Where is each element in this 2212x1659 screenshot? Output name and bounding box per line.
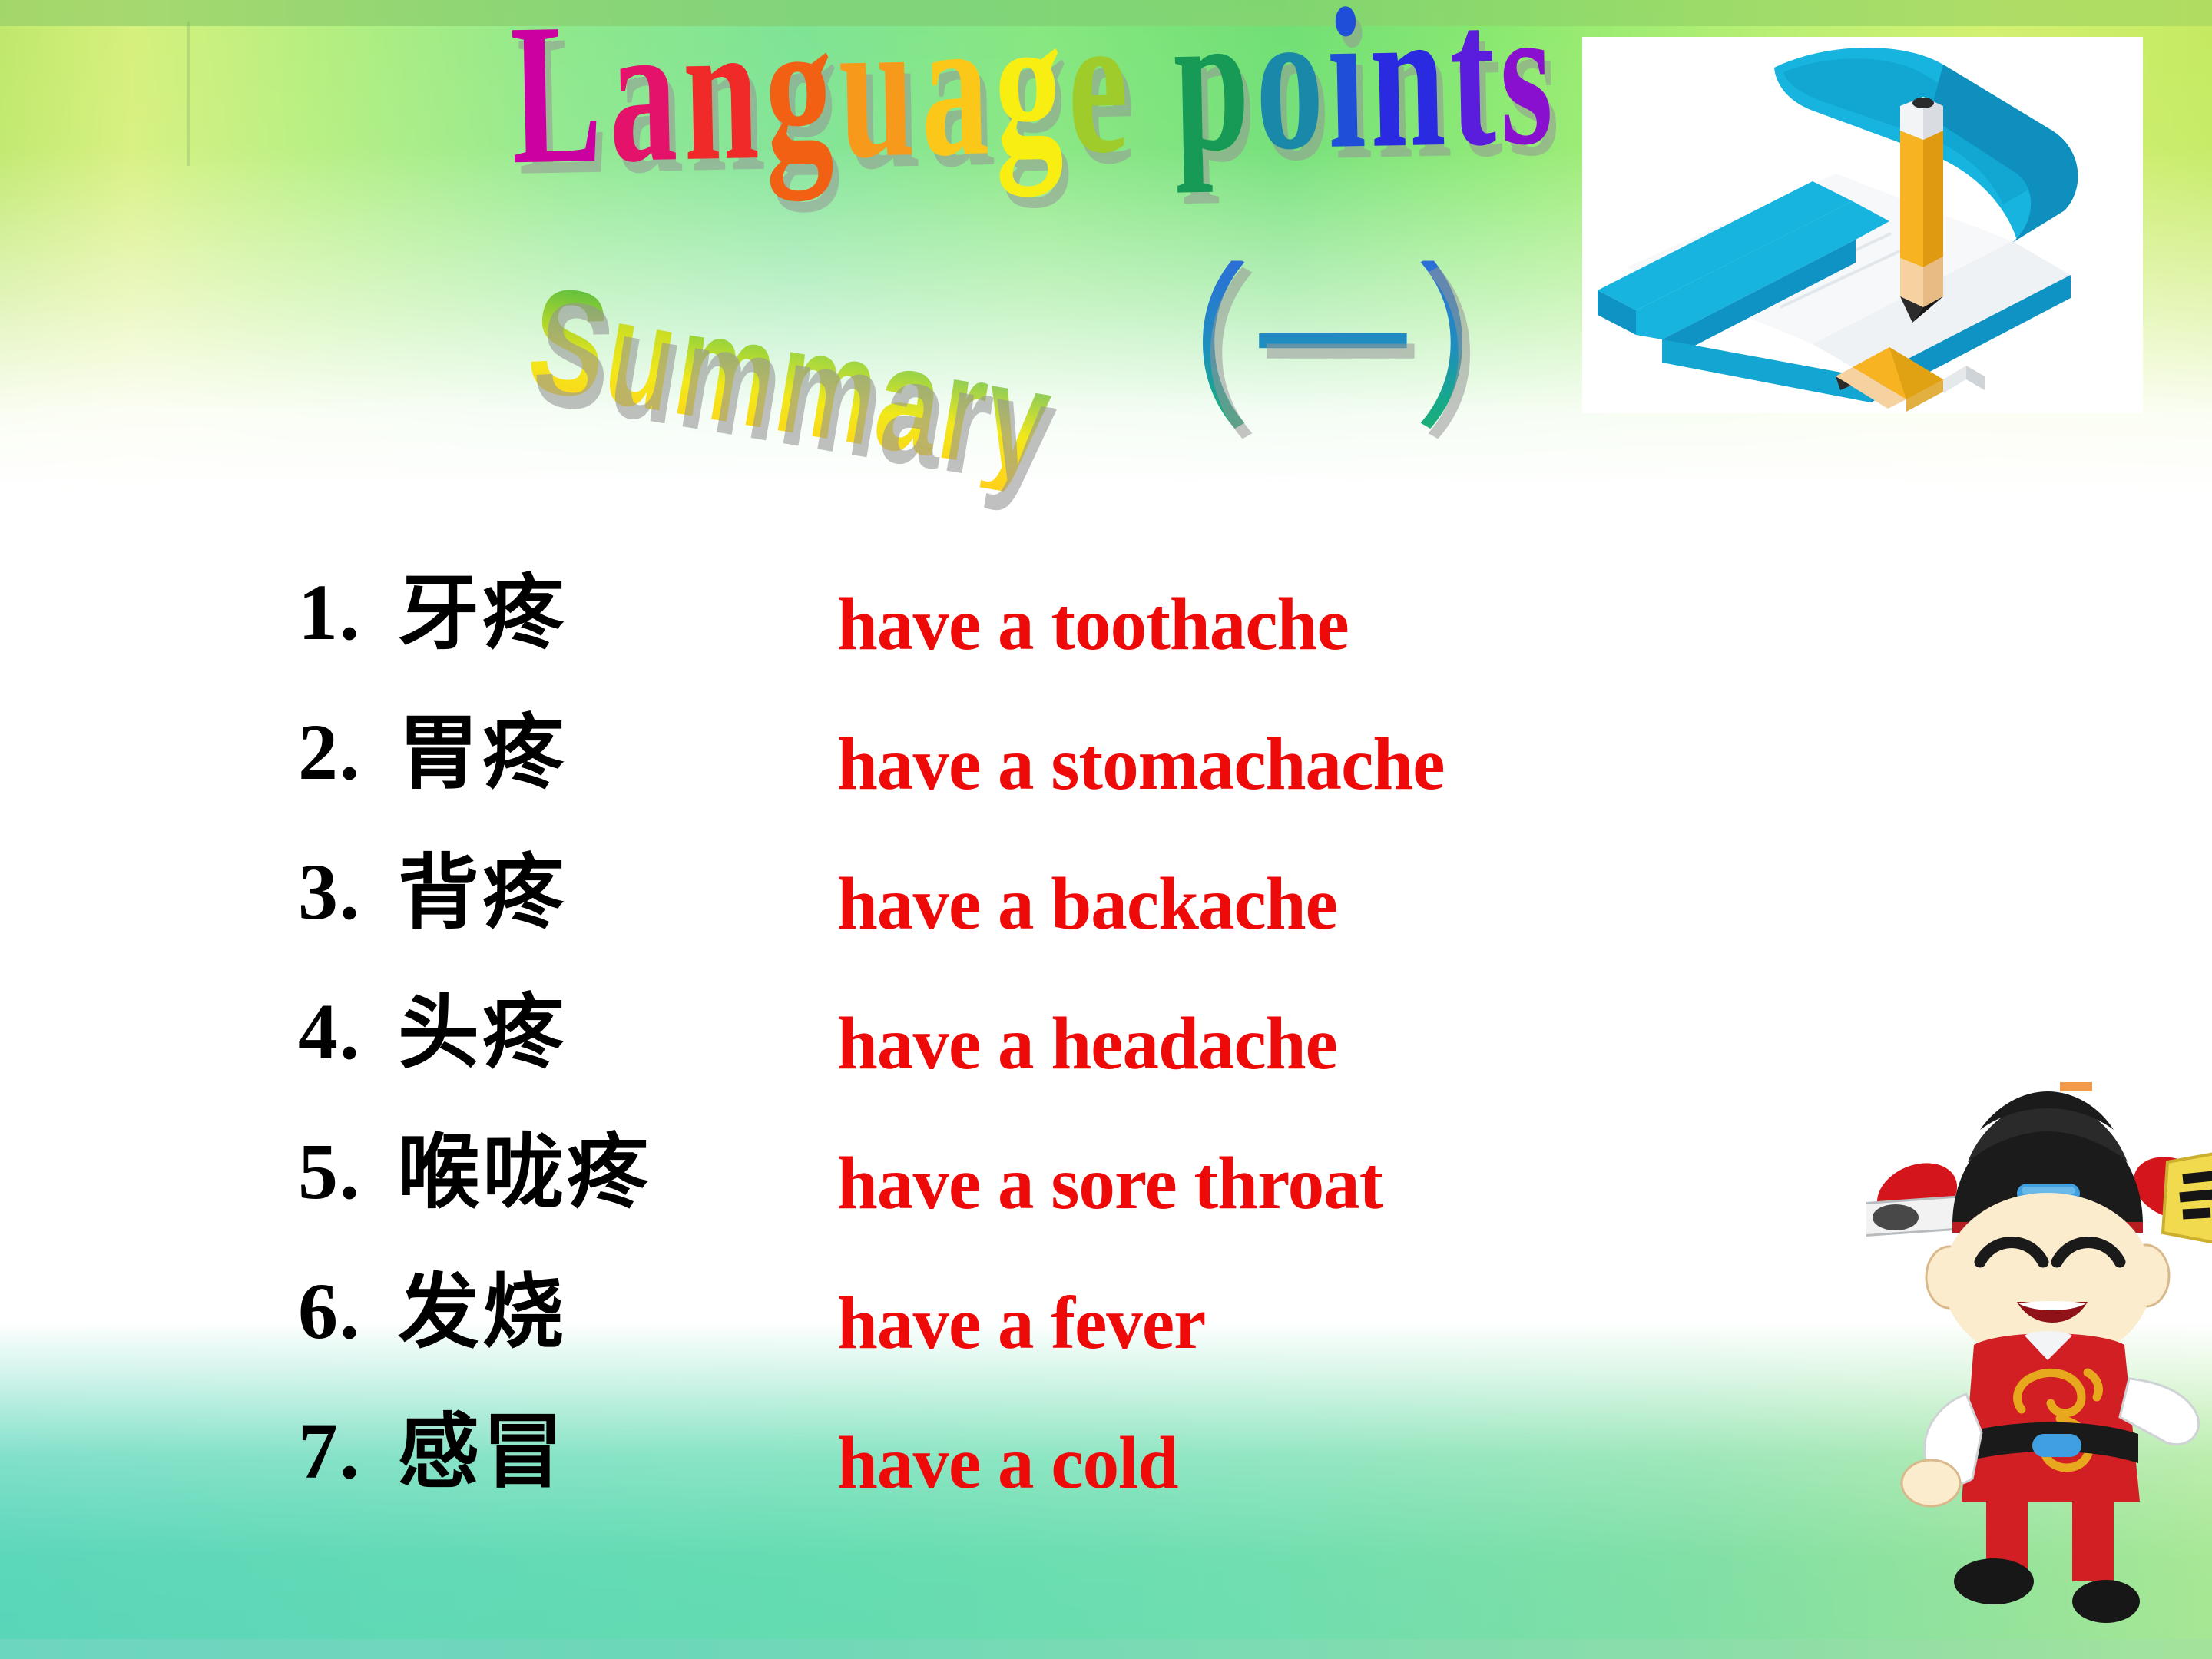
title-letter: o [1253, 0, 1323, 182]
list-item-number: 5. [298, 1132, 361, 1212]
list-item: 3.背疼have a backache [0, 848, 2212, 988]
open-book-with-pencil-illustration [1582, 37, 2143, 413]
list-item-number: 2. [298, 713, 361, 793]
title-letter: a [919, 0, 988, 188]
list-item-english: have a toothache [837, 587, 1349, 662]
list-item-chinese: 头疼 [398, 988, 567, 1078]
subtitle-suffix: （一） [1091, 260, 1575, 441]
list-item-chinese: 胃疼 [398, 708, 567, 798]
list-item-number: 3. [298, 853, 361, 932]
title-letter: n [1368, 0, 1445, 180]
title-letter: L [509, 0, 602, 196]
slide-canvas: Language points Summary （一） [0, 0, 2212, 1659]
title-letter: e [1065, 0, 1128, 186]
list-item-english: have a headache [837, 1006, 1337, 1081]
title-letter: a [607, 0, 677, 194]
list-item-chinese: 喉咙疼 [398, 1128, 651, 1217]
list-item: 2.胃疼have a stomachache [0, 708, 2212, 848]
list-item-chinese: 感冒 [398, 1407, 567, 1497]
chinese-new-year-boy-mascot [1866, 1071, 2212, 1659]
title-letter: n [680, 0, 758, 193]
list-item-number: 4. [298, 992, 361, 1072]
title-letter: p [1171, 0, 1249, 184]
book-pencil-svg [1582, 37, 2143, 413]
list-item-number: 1. [298, 573, 361, 653]
title-letter: t [1449, 0, 1496, 178]
list-item-chinese: 牙疼 [398, 568, 567, 658]
title-letter: i [1326, 0, 1366, 180]
mascot-svg [1866, 1071, 2212, 1659]
list-item-number: 7. [298, 1412, 361, 1492]
list-item-chinese: 背疼 [398, 848, 567, 938]
list-item-english: have a sore throat [837, 1146, 1382, 1221]
background-vertical-streak [187, 22, 190, 166]
page-title-letters: Language points [505, 25, 1599, 196]
title-letter: g [992, 0, 1062, 187]
title-letter: g [763, 0, 833, 191]
title-letter: s [1497, 0, 1552, 177]
list-item-english: have a cold [837, 1426, 1178, 1501]
list-item-english: have a fever [837, 1286, 1205, 1361]
list-item-chinese: 发烧 [398, 1267, 567, 1357]
subtitle-wordart: Summary （一） [538, 296, 1498, 465]
title-letter-space [1130, 0, 1170, 184]
list-item-number: 6. [298, 1272, 361, 1352]
list-item: 1.牙疼have a toothache [0, 568, 2212, 708]
list-item-english: have a stomachache [837, 727, 1444, 802]
list-item-english: have a backache [837, 866, 1337, 942]
page-title-wordart: Language points [505, 25, 1600, 237]
title-letter: u [836, 0, 914, 190]
